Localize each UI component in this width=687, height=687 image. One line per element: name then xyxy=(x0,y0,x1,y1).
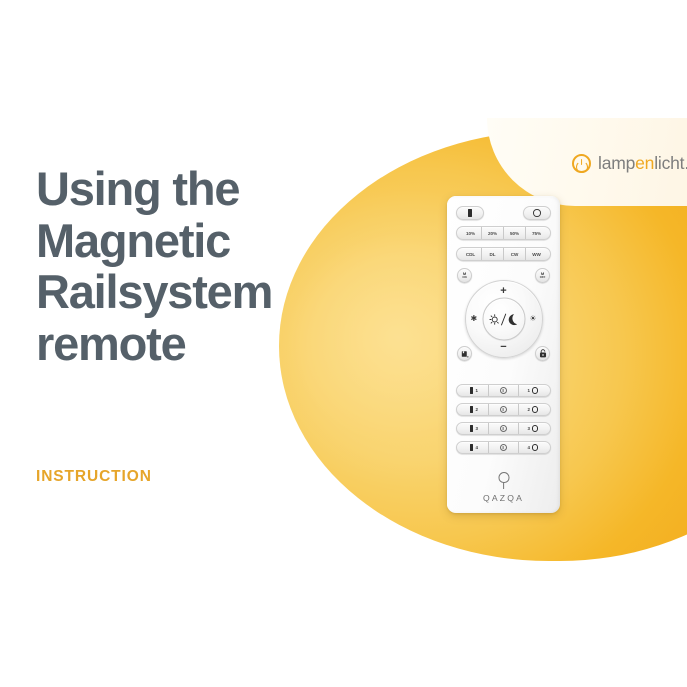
brightness-preset-75[interactable]: 75% xyxy=(526,227,547,239)
pendant-lamp-stem xyxy=(503,482,505,489)
color-temp-dl[interactable]: DL xyxy=(482,248,504,260)
mode-on-label-bottom: ON xyxy=(462,276,466,279)
pendant-lamp-icon xyxy=(497,472,510,489)
scene-save-icon xyxy=(461,350,469,358)
slide-canvas: lampenlicht.n Using the Magnetic Railsys… xyxy=(0,0,687,687)
qazqa-brand: QAZQA xyxy=(447,472,560,503)
logo-part-licht: licht.n xyxy=(654,153,687,173)
zone-4-off-number: 4 xyxy=(528,445,530,450)
zone-1-on-button[interactable]: 1 xyxy=(460,385,489,396)
zone-3-on-button[interactable]: 3 xyxy=(460,423,489,434)
kicker-label: INSTRUCTION xyxy=(36,468,152,486)
zone-row-3: 3 3 xyxy=(456,422,551,435)
color-temp-preset-row: CDL DL CW WW xyxy=(456,247,551,261)
zone-row-4: 4 4 xyxy=(456,441,551,454)
sun-icon[interactable]: ☀ xyxy=(529,315,536,323)
brightness-preset-20[interactable]: 20% xyxy=(482,227,504,239)
zone-on-icon xyxy=(470,425,473,431)
lock-icon xyxy=(539,349,547,358)
timer-icon xyxy=(500,425,507,432)
zone-row-2: 2 2 xyxy=(456,403,551,416)
zone-1-off-number: 1 xyxy=(528,388,530,393)
mode-off-label-bottom: OFF xyxy=(540,276,546,279)
brightness-preset-10[interactable]: 10% xyxy=(460,227,482,239)
zone-off-icon xyxy=(532,444,538,450)
remote-control: 10% 20% 50% 75% CDL DL CW WW M ON M OFF … xyxy=(447,196,560,513)
power-circle-icon xyxy=(572,154,591,173)
page-title: Using the Magnetic Railsystem remote xyxy=(36,163,366,370)
logo-part-en: en xyxy=(635,153,654,173)
zone-2-timer-button[interactable] xyxy=(489,404,518,415)
day-night-toggle-icon xyxy=(489,312,519,326)
power-off-button[interactable] xyxy=(523,206,551,220)
zone-off-icon xyxy=(532,387,538,393)
zone-2-off-button[interactable]: 2 xyxy=(519,404,547,415)
timer-icon xyxy=(500,387,507,394)
zone-off-icon xyxy=(532,425,538,431)
color-temp-cdl[interactable]: CDL xyxy=(460,248,482,260)
logo-wordmark: lampenlicht.n xyxy=(598,155,687,173)
power-row xyxy=(456,206,551,220)
timer-icon xyxy=(500,406,507,413)
zone-1-timer-button[interactable] xyxy=(489,385,518,396)
zone-3-off-button[interactable]: 3 xyxy=(519,423,547,434)
mode-off-button[interactable]: M OFF xyxy=(535,268,550,283)
qazqa-brand-name: QAZQA xyxy=(483,493,524,503)
power-on-bar-icon xyxy=(468,209,471,216)
zone-on-icon xyxy=(470,387,473,393)
lampenlicht-logo: lampenlicht.n xyxy=(572,154,687,173)
zone-row-1: 1 1 xyxy=(456,384,551,397)
power-off-circle-icon xyxy=(533,209,540,216)
brightness-down-button[interactable]: − xyxy=(500,342,506,353)
lock-button[interactable] xyxy=(535,346,550,361)
day-night-toggle-button[interactable] xyxy=(482,298,525,341)
zone-4-off-button[interactable]: 4 xyxy=(519,442,547,453)
logo-part-lamp: lamp xyxy=(598,153,635,173)
zone-4-on-button[interactable]: 4 xyxy=(460,442,489,453)
brightness-preset-row: 10% 20% 50% 75% xyxy=(456,226,551,240)
color-temp-cw[interactable]: CW xyxy=(504,248,526,260)
zone-2-on-button[interactable]: 2 xyxy=(460,404,489,415)
brightness-up-button[interactable]: + xyxy=(500,286,506,297)
zone-4-on-number: 4 xyxy=(475,445,477,450)
brightness-preset-50[interactable]: 50% xyxy=(504,227,526,239)
zone-1-on-number: 1 xyxy=(475,388,477,393)
zone-3-on-number: 3 xyxy=(475,426,477,431)
zone-4-timer-button[interactable] xyxy=(489,442,518,453)
zone-on-icon xyxy=(470,406,473,412)
power-on-button[interactable] xyxy=(456,206,484,220)
zone-2-on-number: 2 xyxy=(475,407,477,412)
control-wheel[interactable]: + − ✱ ☀ xyxy=(465,280,543,358)
zone-off-icon xyxy=(532,406,538,412)
scene-save-button[interactable] xyxy=(457,346,472,361)
timer-icon xyxy=(500,444,507,451)
zone-3-off-number: 3 xyxy=(528,426,530,431)
zone-3-timer-button[interactable] xyxy=(489,423,518,434)
color-temp-ww[interactable]: WW xyxy=(526,248,547,260)
snowflake-icon[interactable]: ✱ xyxy=(471,315,478,323)
mode-on-button[interactable]: M ON xyxy=(457,268,472,283)
zone-on-icon xyxy=(470,444,473,450)
zone-1-off-button[interactable]: 1 xyxy=(519,385,547,396)
zone-2-off-number: 2 xyxy=(528,407,530,412)
